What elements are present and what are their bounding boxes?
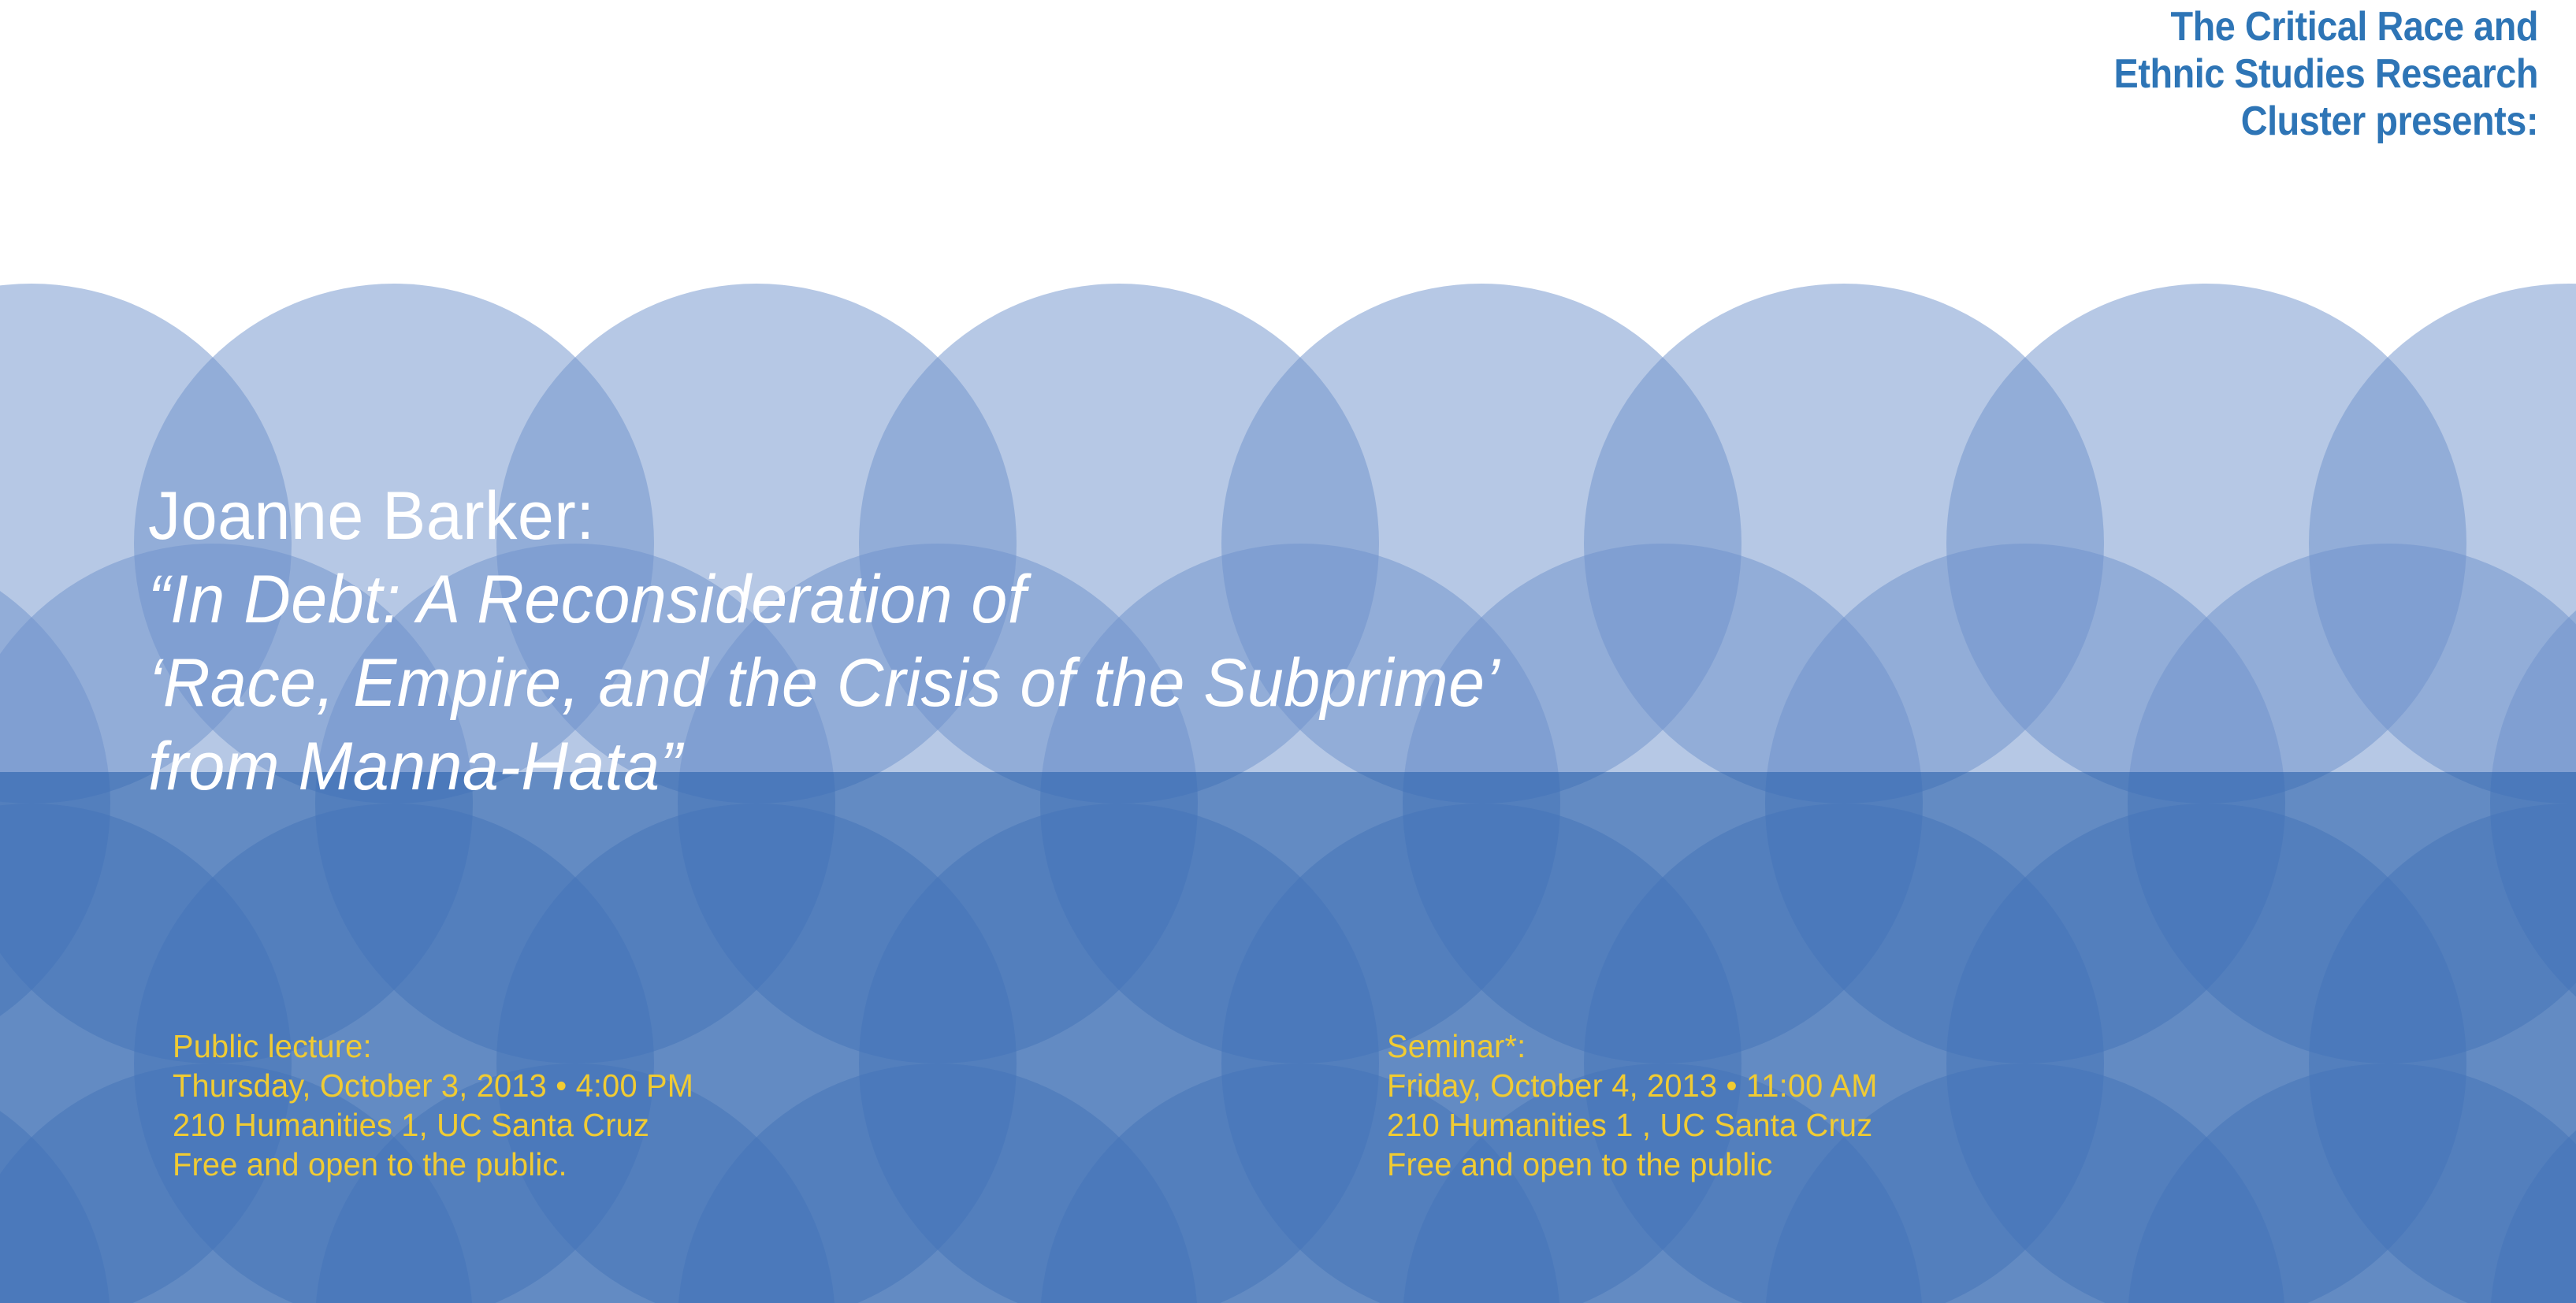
title-line-3: from Manna-Hata” bbox=[148, 733, 1500, 800]
public-lecture-details: Public lecture: Thursday, October 3, 201… bbox=[173, 1026, 710, 1184]
title-line-2: ‘Race, Empire, and the Crisis of the Sub… bbox=[148, 649, 1500, 717]
seminar-location: 210 Humanities 1 , UC Santa Cruz bbox=[1387, 1105, 1878, 1145]
event-title: Joanne Barker: “In Debt: A Reconsiderati… bbox=[148, 482, 1556, 816]
header-line-2: Ethnic Studies Research bbox=[1616, 54, 2538, 95]
presenter-header: The Critical Race and Ethnic Studies Res… bbox=[1514, 0, 2576, 148]
seminar-admission: Free and open to the public bbox=[1387, 1145, 1878, 1184]
lecture-datetime: Thursday, October 3, 2013 • 4:00 PM bbox=[173, 1066, 693, 1105]
lecture-admission: Free and open to the public. bbox=[173, 1145, 693, 1184]
seminar-heading: Seminar*: bbox=[1387, 1026, 1878, 1066]
seminar-details: Seminar*: Friday, October 4, 2013 • 11:0… bbox=[1387, 1026, 1893, 1184]
header-line-3: Cluster presents: bbox=[1616, 101, 2538, 142]
lecture-heading: Public lecture: bbox=[173, 1026, 693, 1066]
seminar-datetime: Friday, October 4, 2013 • 11:00 AM bbox=[1387, 1066, 1878, 1105]
title-line-1: “In Debt: A Reconsideration of bbox=[148, 566, 1500, 633]
poster-canvas: The Critical Race and Ethnic Studies Res… bbox=[0, 0, 2576, 1303]
header-line-1: The Critical Race and bbox=[1616, 6, 2538, 47]
title-line-speaker: Joanne Barker: bbox=[148, 482, 1500, 550]
lecture-location: 210 Humanities 1, UC Santa Cruz bbox=[173, 1105, 693, 1145]
